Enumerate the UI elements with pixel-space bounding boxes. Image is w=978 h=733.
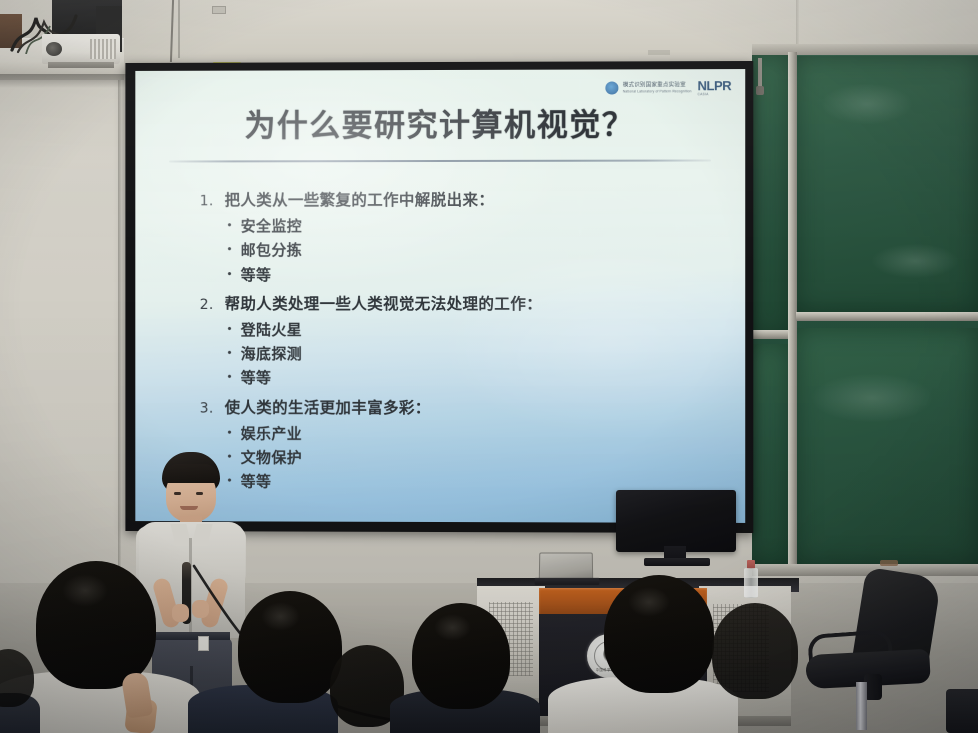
- bullet-dot-icon: •: [227, 243, 233, 258]
- sub-bullet: • 登陆火星: [227, 318, 725, 343]
- slide-title-divider: [169, 159, 711, 162]
- projector-vent: [90, 39, 116, 59]
- head-highlight: [62, 574, 108, 607]
- bullet-dot-icon: •: [227, 426, 233, 441]
- lab-abbr: NLPR: [697, 79, 731, 92]
- bullet-dot-icon: •: [227, 323, 233, 338]
- ceiling-projector: [42, 34, 120, 64]
- item-number: 3.: [199, 400, 214, 416]
- sub-bullet-label: 等等: [241, 263, 272, 287]
- sub-bullet: • 文物保护: [227, 446, 725, 471]
- sub-bullet: • 安全监控: [227, 214, 725, 239]
- chalkboard-top-rail: [752, 44, 978, 55]
- chalkboard-divider: [796, 312, 978, 321]
- sub-bullet-label: 娱乐产业: [241, 421, 302, 445]
- lab-logo-text: 模式识别国家重点实验室 National Laboratory of Patte…: [623, 82, 692, 93]
- green-chalkboard: [752, 44, 978, 564]
- dark-object-bottom-right: [946, 689, 978, 733]
- audience-head: [712, 603, 798, 699]
- numbered-item: 2. 帮助人类处理一些人类视觉无法处理的工作：: [199, 292, 725, 314]
- sub-bullet: • 娱乐产业: [227, 421, 725, 446]
- slide-bullet-list: 1. 把人类从一些繁复的工作中解脱出来： • 安全监控 • 邮包分拣: [199, 188, 725, 496]
- sub-bullet-label: 邮包分拣: [241, 238, 302, 262]
- wall-outlet: [212, 6, 226, 14]
- item-text: 把人类从一些繁复的工作中解脱出来：: [225, 188, 495, 210]
- audience-head: [604, 575, 714, 693]
- monitor: [616, 490, 736, 566]
- sub-bullet-list: • 登陆火星 • 海底探测 • 等等: [227, 318, 725, 391]
- bullet-dot-icon: •: [227, 268, 233, 283]
- head-highlight: [434, 614, 471, 642]
- projector-mount: [48, 62, 114, 68]
- chalkboard-panel: [752, 344, 788, 564]
- item-text: 帮助人类处理一些人类视觉无法处理的工作：: [225, 292, 542, 314]
- shelf-shadow: [0, 74, 128, 88]
- sub-bullet-label: 安全监控: [241, 214, 302, 238]
- hanging-wire: [178, 0, 180, 58]
- item-number: 2.: [199, 297, 214, 313]
- bullet-dot-icon: •: [227, 219, 233, 234]
- lab-abbr-block: NLPR CASIA: [697, 79, 731, 96]
- item-text: 使人类的生活更加丰富多彩：: [225, 395, 431, 417]
- sub-bullet: • 等等: [227, 366, 725, 391]
- presenter-fringe: [163, 464, 219, 483]
- sub-bullet: • 等等: [227, 262, 725, 286]
- lab-name-en: National Laboratory of Pattern Recogniti…: [623, 89, 692, 93]
- slide-title: 为什么要研究计算机视觉？: [155, 99, 725, 145]
- presenter-eye-left: [174, 492, 181, 495]
- chalkboard-frame: [788, 52, 797, 564]
- projector-lens-icon: [46, 42, 62, 56]
- sub-bullet: • 海底探测: [227, 342, 725, 367]
- numbered-item: 1. 把人类从一些繁复的工作中解脱出来：: [199, 188, 725, 211]
- audience-head: [238, 591, 342, 703]
- audience-head: [412, 603, 510, 709]
- sub-bullet-list: • 娱乐产业 • 文物保护 • 等等: [227, 421, 725, 495]
- bullet-dot-icon: •: [227, 347, 233, 362]
- head-highlight: [628, 587, 670, 618]
- chalkboard-panel: [796, 328, 978, 564]
- monitor-screen: [616, 490, 736, 552]
- presenter-eye-right: [196, 492, 203, 495]
- circle-logo-icon: [606, 81, 619, 94]
- chalkboard-clip: [758, 58, 762, 88]
- item-number: 1.: [199, 193, 214, 209]
- sub-bullet: • 邮包分拣: [227, 238, 725, 263]
- sub-bullet-label: 登陆火星: [241, 318, 302, 342]
- audience: [0, 558, 978, 733]
- audience-head: [0, 649, 34, 707]
- head-highlight: [261, 602, 301, 631]
- chalkboard-panel: [796, 56, 978, 312]
- numbered-item: 3. 使人类的生活更加丰富多彩：: [199, 395, 725, 418]
- wall-vent: [648, 50, 670, 55]
- presenter-mouth: [180, 506, 198, 510]
- lecture-hall-photo: 模式识别国家重点实验室 National Laboratory of Patte…: [0, 0, 978, 733]
- chalkboard-panel: [752, 55, 788, 335]
- sub-bullet-list: • 安全监控 • 邮包分拣 • 等等: [227, 214, 725, 287]
- lab-logo: 模式识别国家重点实验室 National Laboratory of Patte…: [606, 79, 731, 96]
- audience-head: [36, 561, 156, 689]
- sub-bullet-label: 海底探测: [241, 342, 302, 366]
- bullet-dot-icon: •: [227, 371, 233, 386]
- sub-bullet-label: 等等: [241, 366, 272, 390]
